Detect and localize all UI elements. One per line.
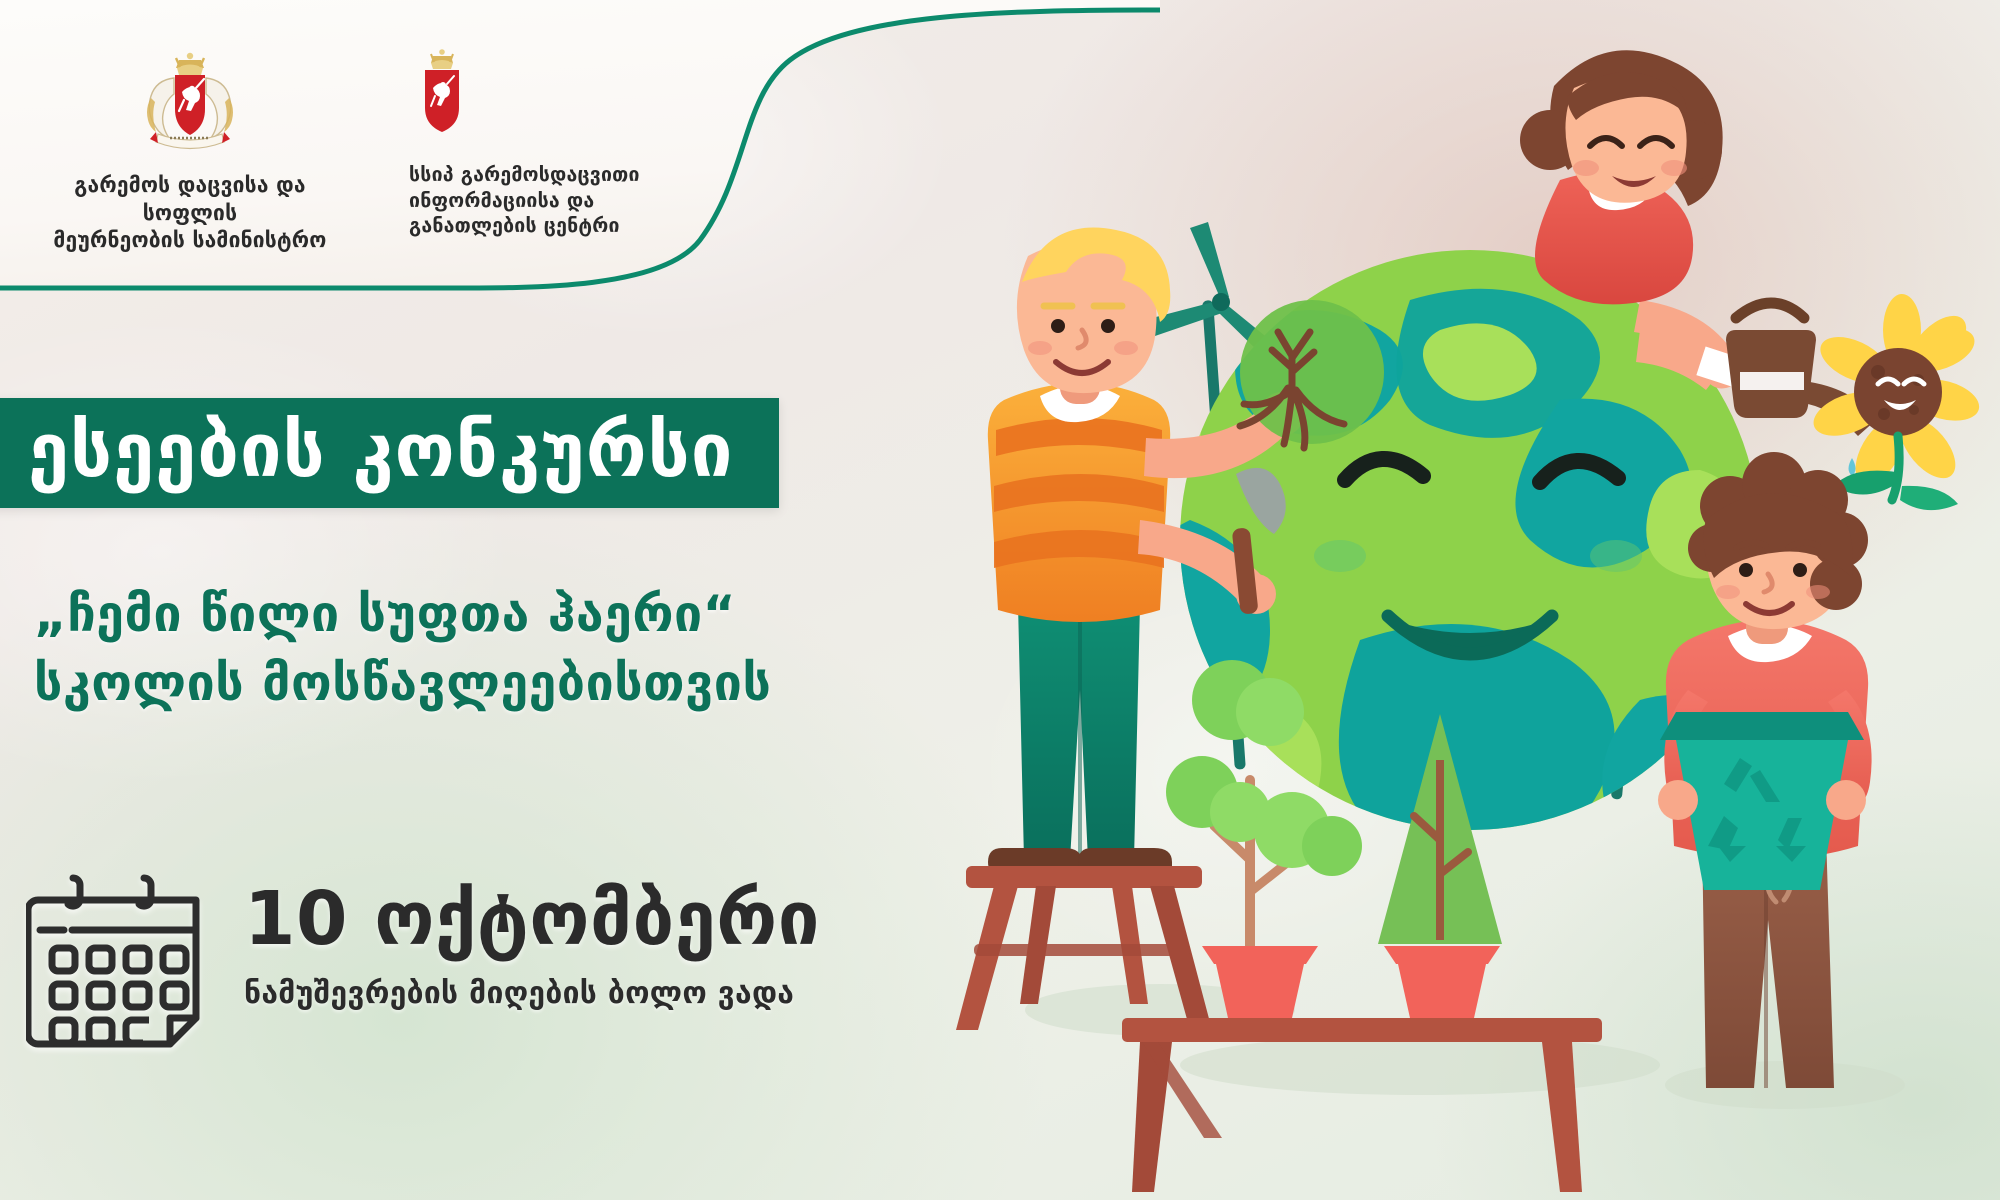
subtitle-block: „ჩემი წილი სუფთა ჰაერი“ სკოლის მოსწავლეე… (34, 580, 771, 718)
boy2-eye-right (1793, 563, 1807, 577)
title-banner: ესეების კონკურსი (0, 398, 779, 508)
globe-blush-right (1590, 540, 1642, 572)
georgia-greater-coat-of-arms-icon (134, 46, 246, 158)
sunflower-leaf-right (1900, 486, 1958, 510)
header-panel: გარემოს დაცვისა და სოფლის მეურნეობის სამ… (0, 0, 1160, 300)
subtitle-line-theme: „ჩემი წილი სუფთა ჰაერი“ (34, 580, 771, 649)
georgia-small-coat-of-arms-icon (411, 44, 473, 148)
logo-center: სსიპ გარემოსდაცვითი ინფორმაციისა და განა… (405, 44, 735, 239)
watering-can-handle (1736, 303, 1804, 318)
deadline-text-block: 10 ოქტომბერი ნამუშევრების მიღების ბოლო ვ… (244, 882, 820, 1011)
logo-ministry: გარემოს დაცვისა და სოფლის მეურნეობის სამ… (30, 46, 350, 255)
boy2-eye-left (1739, 563, 1753, 577)
deadline-date: 10 ოქტომბერი (244, 882, 820, 956)
sunflower-center (1854, 348, 1942, 436)
boy2-hand-right (1826, 780, 1866, 820)
page-title: ესეების კონკურსი (28, 414, 733, 488)
table-top (1122, 1018, 1602, 1042)
potted-plant-right (1384, 946, 1500, 1018)
subtitle-line-audience: სკოლის მოსწავლეებისთვის (34, 649, 771, 718)
crest-wrap-ministry (30, 46, 350, 158)
boy-holding-recycling-bin (1658, 452, 1872, 1088)
ground-shadow (1180, 1035, 1660, 1095)
poster-canvas: გარემოს დაცვისა და სოფლის მეურნეობის სამ… (0, 0, 2000, 1200)
boy-eye-right (1101, 319, 1115, 333)
logo-center-caption: სსიპ გარემოსდაცვითი ინფორმაციისა და განა… (405, 162, 640, 239)
boy2-hand-left (1658, 780, 1698, 820)
bin-body (1676, 740, 1848, 890)
logo-ministry-caption: გარემოს დაცვისა და სოფლის მეურნეობის სამ… (30, 172, 350, 255)
bin-lid (1660, 712, 1864, 740)
deadline-note: ნამუშევრების მიღების ბოლო ვადა (244, 976, 820, 1011)
logo-row: გარემოს დაცვისა და სოფლის მეურნეობის სამ… (0, 0, 1100, 300)
deadline-block: 10 ოქტომბერი ნამუშევრების მიღების ბოლო ვ… (26, 868, 820, 1064)
crest-wrap-center (405, 44, 735, 148)
calendar-icon (26, 874, 208, 1064)
globe-blush-left (1314, 540, 1366, 572)
boy-eye-left (1051, 319, 1065, 333)
